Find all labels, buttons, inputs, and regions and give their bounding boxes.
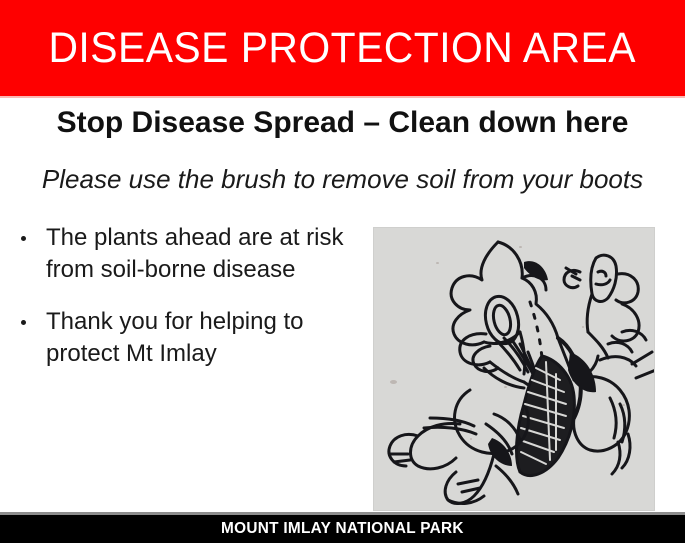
boot-brushing-illustration (373, 227, 655, 511)
bullet-dot-icon (21, 320, 26, 325)
header-banner: DISEASE PROTECTION AREA (0, 0, 685, 96)
footer-bar: MOUNT IMLAY NATIONAL PARK (0, 515, 685, 543)
banner-title: DISEASE PROTECTION AREA (49, 27, 637, 70)
list-item-label: Thank you for helping to protect Mt Imla… (46, 308, 304, 367)
list-item-label: The plants ahead are at risk from soil-b… (46, 224, 344, 283)
list-item: The plants ahead are at risk from soil-b… (14, 222, 364, 286)
banner-bottom-edge (0, 96, 685, 98)
bullet-list: The plants ahead are at risk from soil-b… (14, 222, 364, 370)
list-item: Thank you for helping to protect Mt Imla… (14, 306, 364, 370)
footer-base-strip (0, 543, 685, 548)
subheading-text: Please use the brush to remove soil from… (0, 163, 685, 195)
bullet-dot-icon (21, 236, 26, 241)
footer-text: MOUNT IMLAY NATIONAL PARK (221, 521, 464, 537)
headline-text: Stop Disease Spread – Clean down here (0, 105, 685, 141)
disease-protection-sign: DISEASE PROTECTION AREA Stop Disease Spr… (0, 0, 685, 548)
sketch-figure (374, 228, 655, 511)
